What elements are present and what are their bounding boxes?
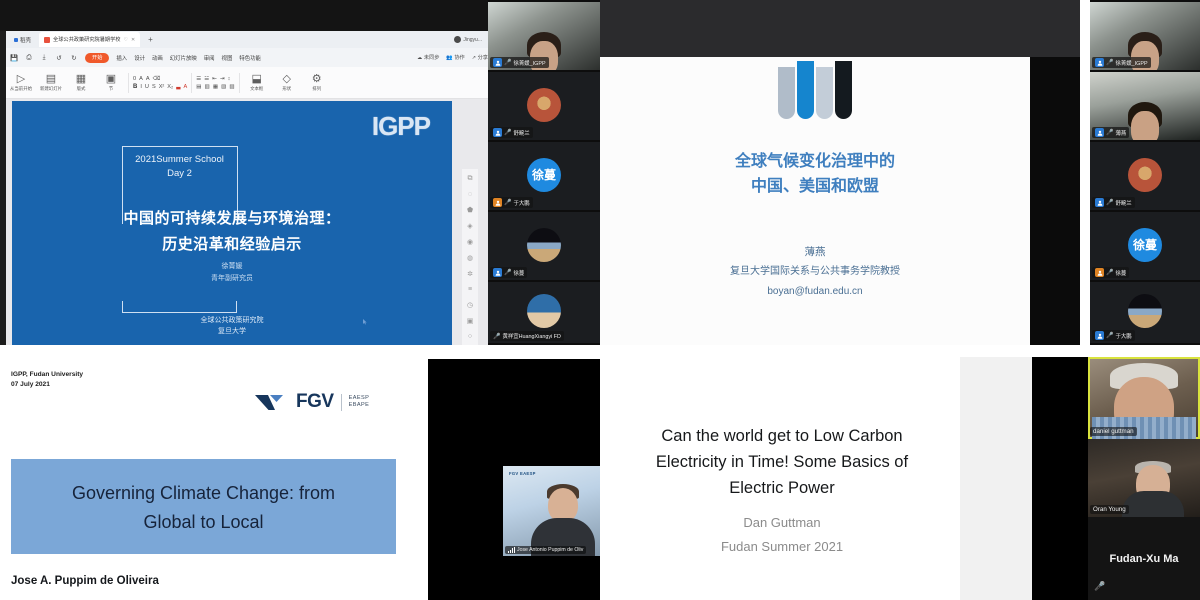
section-icon: ▣ [106, 74, 116, 85]
face-shape [548, 488, 578, 522]
bars-graphic [778, 61, 852, 119]
play-icon: ▷ [17, 74, 25, 85]
decrease-indent-icon[interactable]: ⇤ [212, 76, 217, 82]
arrange-button[interactable]: ⚙ 排列 [304, 74, 330, 92]
line-spacing-icon[interactable]: ↕ [228, 76, 231, 82]
black-side-pane [1028, 57, 1080, 345]
mic-muted-icon: 🎤 [1106, 59, 1113, 66]
avatar: 徐蔓 [527, 158, 561, 192]
font-group: 0 A A ⌫ B I U S X² X₂ ▃ [133, 76, 187, 90]
image-icon[interactable]: ▣ [467, 317, 474, 325]
participant-nametag: 🎤 徐菁媛_IGPP [490, 57, 549, 68]
black-side-pane: FGV EAESP Jose Antonio Puppim de Oliv [428, 359, 600, 600]
black-side-pane: daniel guttman Oran Young Fudan-Xu Ma 🎤 [1032, 357, 1200, 600]
people-icon: 👥 [446, 55, 452, 61]
fgv-watermark: FGV EAESP [509, 471, 536, 476]
participant-tile[interactable]: 🎤 徐菁媛_IGPP [1090, 2, 1200, 70]
video-on-icon [1095, 128, 1104, 137]
fgv-logo: FGV EAESP EBAPE [255, 391, 369, 413]
font-row-bottom: B I U S X² X₂ ▃ A [133, 84, 187, 90]
igpp-logo: IGPP [372, 111, 430, 142]
slide-title: 全球气候变化治理中的 中国、美国和欧盟 [600, 149, 1030, 199]
slide-content[interactable]: IGPP 2021Summer School Day 2 中国的可持续发展与环境… [12, 101, 452, 345]
fgv-mark-icon [255, 393, 289, 412]
mic-muted-icon: 🎤 [1094, 581, 1105, 592]
bullets-icon[interactable]: ☰ [196, 76, 201, 82]
mic-muted-icon: 🎤 [1106, 269, 1113, 276]
fgv-sub-line1: EAESP [349, 395, 370, 403]
signal-strength-icon [508, 547, 515, 553]
participant-panel-q1: 🎤 徐菁媛_IGPP 🎤 舒畹兰 徐蔓 [488, 0, 600, 345]
mic-muted-icon: 🎤 [504, 199, 511, 206]
bold-button[interactable]: B [133, 84, 137, 90]
slide-org-line2: 复旦大学 [12, 326, 452, 337]
bar-3 [816, 67, 833, 119]
align-left-icon[interactable]: ▤ [196, 84, 201, 90]
avatar-initials: 徐蔓 [1133, 236, 1157, 253]
avatar [527, 88, 561, 122]
slide-title-line1: 中国的可持续发展与环境治理： [12, 206, 452, 232]
slide-content[interactable]: Can the world get to Low Carbon Electric… [600, 357, 960, 600]
participant-name: Jose Antonio Puppim de Oliv [517, 547, 583, 553]
bar-1 [778, 67, 795, 119]
participant-name: 徐蔓 [513, 269, 524, 277]
new-slide-button[interactable]: ▤ 新建幻灯片 [38, 74, 64, 92]
right-tool-rail: ⧉ ◌ ⬟ ◈ ◉ ◍ ✲ ≡ ◷ ▣ ○ [462, 169, 478, 345]
ribbon-tab-slideshow[interactable]: 幻灯片放映 [170, 54, 197, 62]
account-label: Jingyu... [463, 37, 482, 43]
participant-nametag: 🎤 舒畹兰 [490, 127, 533, 138]
self-video-tile[interactable]: FGV EAESP Jose Antonio Puppim de Oliv [503, 466, 600, 556]
slide-author-affiliation: 复旦大学国际关系与公共事务学院教授 [600, 262, 1030, 282]
face-shape [1131, 111, 1159, 140]
slide-speaker: Jose A. Puppim de Oliveira [11, 575, 159, 587]
participant-name: Oran Young [1090, 505, 1129, 514]
globe-icon[interactable]: ◍ [467, 254, 473, 262]
shape-button[interactable]: ◇ 形状 [274, 74, 300, 92]
wps-tab-bar: 稻壳 全球公共政策研究院暑期学校 ♡ ✕ + Jingyu... [6, 31, 488, 48]
align-right-icon[interactable]: ▦ [213, 84, 218, 90]
light-side-pane [960, 357, 1032, 600]
video-off-icon [1095, 268, 1104, 277]
slide-content[interactable]: IGPP, Fudan University 07 July 2021 FGV … [0, 359, 428, 600]
participant-tile[interactable]: 🎤 舒畹兰 [488, 72, 600, 140]
slide-presenter-name: 徐菁媛 [12, 261, 452, 273]
video-on-icon [493, 58, 502, 67]
logo-divider [341, 394, 342, 411]
slide-title-line2: 中国、美国和欧盟 [600, 174, 1030, 199]
quadrant-wps-share: 稻壳 全球公共政策研究院暑期学校 ♡ ✕ + Jingyu... [0, 0, 600, 345]
slide-title-line1: 全球气候变化治理中的 [600, 149, 1030, 174]
redo-icon[interactable]: ↻ [70, 54, 78, 62]
toolbar-divider-3 [239, 73, 240, 93]
target-icon[interactable]: ◉ [467, 238, 473, 246]
title-band: Governing Climate Change: from Global to… [11, 459, 396, 554]
slide-title-line1: Can the world get to Low Carbon [612, 423, 952, 449]
more-icon[interactable]: ○ [468, 333, 472, 340]
wps-ribbon-toolbar: ▷ 从当前开始 ▤ 新建幻灯片 ▦ 版式 ▣ 节 [6, 67, 488, 99]
wps-app-window: 稻壳 全球公共政策研究院暑期学校 ♡ ✕ + Jingyu... [6, 31, 488, 345]
participant-name: 于大鹏 [513, 199, 529, 207]
favorite-icon[interactable]: ♡ [123, 37, 127, 43]
slide-author-name: 薄燕 [600, 242, 1030, 262]
participant-nametag: 🎤 于大鹏 [490, 197, 533, 208]
share-button[interactable]: ↗ 分享 [472, 54, 488, 61]
video-off-icon [1095, 198, 1104, 207]
participant-nametag: 🎤 黄祥宜HuangXiangyi FD [490, 331, 564, 341]
slide-title-line2: Electricity in Time! Some Basics of [612, 449, 952, 475]
slide-presenter-title: 青年副研究员 [12, 273, 452, 285]
font-row-top: 0 A A ⌫ [133, 76, 187, 82]
slide-org-line1: 全球公共政策研究院 [12, 315, 452, 326]
video-off-icon [493, 198, 502, 207]
participant-panel-q4: daniel guttman Oran Young Fudan-Xu Ma 🎤 [1088, 357, 1200, 600]
share-icon: ↗ [472, 55, 476, 61]
mic-muted-icon: 🎤 [504, 129, 511, 136]
mic-muted-icon: 🎤 [1106, 332, 1113, 339]
cloud-icon: ☁ [417, 55, 422, 61]
search-icon[interactable]: ◌ [468, 191, 472, 198]
ribbon-tab-view[interactable]: 视图 [222, 54, 233, 62]
avatar [454, 36, 461, 43]
slide-title-line3: Electric Power [612, 475, 952, 501]
arrange-label: 排列 [312, 86, 321, 92]
sliders-icon[interactable]: ≡ [468, 286, 472, 293]
lock-icon[interactable]: ⬟ [467, 206, 473, 214]
ribbon-tab-design[interactable]: 设计 [134, 54, 145, 62]
document-tab[interactable]: 全球公共政策研究院暑期学校 ♡ ✕ [39, 32, 140, 47]
paragraph-group: ☰ ☱ ⇤ ⇥ ↕ ▤ ▥ ▦ ▧ ▨ [196, 76, 234, 90]
export-icon[interactable]: ⤓ [40, 54, 48, 62]
share-label: 分享 [478, 54, 488, 61]
participant-panel-q2: 🎤 徐菁媛_IGPP 🎤 薄燕 [1090, 0, 1200, 345]
mic-muted-icon: 🎤 [504, 269, 511, 276]
slide-content[interactable]: 全球气候变化治理中的 中国、美国和欧盟 薄燕 复旦大学国际关系与公共事务学院教授… [600, 57, 1030, 345]
participant-name: 徐蔓 [1115, 269, 1126, 277]
participant-name: Fudan-Xu Ma [1109, 553, 1178, 565]
participant-name: 于大鹏 [1115, 332, 1131, 340]
numbering-icon[interactable]: ☱ [204, 76, 209, 82]
clear-format-icon[interactable]: ⌫ [153, 76, 161, 82]
slide-title-line1: Governing Climate Change: from [11, 479, 396, 508]
slide-title-line2: Global to Local [11, 508, 396, 537]
participant-nametag: Jose Antonio Puppim de Oliv [505, 546, 586, 554]
participant-tile[interactable]: 🎤 徐菁媛_IGPP [488, 2, 600, 70]
shape-label: 形状 [282, 86, 291, 92]
avatar-initials: 徐蔓 [532, 166, 556, 183]
slide-title: 中国的可持续发展与环境治理： 历史沿革和经验启示 [12, 206, 452, 258]
participant-tile[interactable]: 🎤 薄燕 [1090, 72, 1200, 140]
shared-window: 稻壳 全球公共政策研究院暑期学校 ♡ ✕ + Jingyu... [0, 0, 488, 345]
fgv-logo-text: FGV [296, 391, 334, 413]
video-off-icon [1095, 331, 1104, 340]
justify-icon[interactable]: ▧ [221, 84, 226, 90]
wps-ribbon-tabs: 💾 ⎙ ⤓ ↺ ↻ 开始 插入 设计 动画 幻灯片放映 审阅 视图 特色功能 ☁ [6, 48, 488, 67]
textbox-button[interactable]: ⬓ 文本框 [244, 74, 270, 92]
toolbar-divider [128, 73, 129, 93]
participant-nametag: 🎤 薄燕 [1092, 127, 1129, 138]
slide-subtitle-line2: Fudan Summer 2021 [612, 535, 952, 559]
underline-button[interactable]: U [145, 84, 149, 90]
fgv-sub-line2: EBAPE [349, 402, 370, 410]
subscript-button[interactable]: X₂ [167, 84, 173, 90]
collaborate-label: 协作 [454, 54, 464, 61]
avatar [527, 294, 561, 328]
wps-home-icon [14, 38, 18, 42]
avatar [527, 228, 561, 262]
avatar: 徐蔓 [1128, 228, 1162, 262]
document-tab-label: 全球公共政策研究院暑期学校 [53, 36, 120, 43]
slide-author-email: boyan@fudan.edu.cn [600, 282, 1030, 302]
slide-title: Governing Climate Change: from Global to… [11, 479, 396, 537]
slide-header: IGPP, Fudan University 07 July 2021 [11, 370, 83, 389]
align-center-icon[interactable]: ▥ [205, 84, 210, 90]
slide-author-block: 薄燕 复旦大学国际关系与公共事务学院教授 boyan@fudan.edu.cn [600, 242, 1030, 302]
screenshot-grid: 稻壳 全球公共政策研究院暑期学校 ♡ ✕ + Jingyu... [0, 0, 1200, 600]
columns-icon[interactable]: ▨ [229, 84, 234, 90]
slide-header-line1: IGPP, Fudan University [11, 370, 83, 380]
quadrant-climate-slide: 全球气候变化治理中的 中国、美国和欧盟 薄燕 复旦大学国际关系与公共事务学院教授… [600, 0, 1200, 345]
grow-font-icon[interactable]: A [139, 76, 143, 82]
summer-school-line1: 2021Summer School [122, 153, 237, 167]
participant-tile[interactable]: 徐蔓 🎤 于大鹏 [488, 142, 600, 210]
shrink-font-icon[interactable]: A [146, 76, 150, 82]
participant-tile[interactable]: Oran Young [1088, 439, 1200, 517]
print-icon[interactable]: ⎙ [25, 54, 33, 62]
para-row-bottom: ▤ ▥ ▦ ▧ ▨ [196, 84, 234, 90]
new-tab-button[interactable]: + [144, 35, 157, 44]
section-label: 节 [109, 86, 113, 92]
new-slide-label: 新建幻灯片 [40, 86, 62, 92]
textbox-icon: ⬓ [252, 74, 262, 85]
slide-header-line2: 07 July 2021 [11, 380, 83, 390]
copy-icon[interactable]: ⧉ [468, 175, 473, 183]
settings-icon[interactable]: ✲ [467, 270, 473, 278]
participant-name: 薄燕 [1115, 129, 1126, 137]
sync-status[interactable]: ☁ 未同步 [417, 54, 439, 61]
para-row-top: ☰ ☱ ⇤ ⇥ ↕ [196, 76, 234, 82]
video-off-icon [493, 268, 502, 277]
layout-icon: ▦ [76, 74, 86, 85]
igpp-logo-text: IGPP [372, 111, 430, 141]
ribbon-tab-review[interactable]: 审阅 [204, 54, 215, 62]
torso-shape [1122, 491, 1184, 517]
save-icon[interactable]: 💾 [10, 54, 18, 62]
highlight-color-button[interactable]: ▃ [176, 84, 180, 90]
ribbon-tab-features[interactable]: 特色功能 [239, 54, 261, 62]
slide-subtitle: Dan Guttman Fudan Summer 2021 [612, 511, 952, 559]
video-on-icon [1095, 58, 1104, 67]
participant-name: 徐菁媛_IGPP [513, 59, 545, 67]
toolbar-divider-2 [191, 73, 192, 93]
avatar [1128, 158, 1162, 192]
participant-name: 徐菁媛_IGPP [1115, 59, 1147, 67]
participant-tile[interactable]: 🎤 徐蔓 [488, 212, 600, 280]
participant-name: daniel guttman [1090, 427, 1137, 436]
quadrant-electric-power-slide: Can the world get to Low Carbon Electric… [600, 345, 1200, 600]
participant-tile[interactable]: 🎤 舒畹兰 [1090, 142, 1200, 210]
video-off-icon [493, 128, 502, 137]
slide-canvas-area: IGPP 2021Summer School Day 2 中国的可持续发展与环境… [6, 99, 488, 345]
slide-title-line2: 历史沿革和经验启示 [12, 232, 452, 258]
participant-nametag: 🎤 徐菁媛_IGPP [1092, 57, 1151, 68]
bar-4 [835, 61, 852, 119]
font-size-value[interactable]: 0 [133, 76, 136, 82]
close-icon[interactable]: ✕ [131, 37, 135, 43]
slide-presenter-block: 徐菁媛 青年副研究员 [12, 261, 452, 285]
window-title-strip [600, 0, 1080, 57]
layout-label: 版式 [77, 86, 86, 92]
wps-home-button[interactable]: 稻壳 [10, 35, 35, 45]
arrange-icon: ⚙ [312, 74, 322, 85]
participant-name: 舒畹兰 [1115, 199, 1131, 207]
sync-status-label: 未同步 [424, 54, 440, 61]
strikethrough-button[interactable]: S [152, 84, 156, 90]
summer-school-block: 2021Summer School Day 2 [122, 153, 237, 181]
participant-nametag: 🎤 舒畹兰 [1092, 197, 1135, 208]
textbox-label: 文本框 [250, 86, 263, 92]
mic-on-icon: 🎤 [1106, 129, 1113, 136]
layers-icon[interactable]: ◈ [467, 222, 472, 230]
quadrant-fgv-slide: IGPP, Fudan University 07 July 2021 FGV … [0, 345, 600, 600]
participant-tile[interactable]: 徐蔓 🎤 徐蔓 [1090, 212, 1200, 280]
participant-tile[interactable]: daniel guttman [1088, 357, 1200, 439]
superscript-button[interactable]: X² [159, 84, 165, 90]
ribbon-tab-home[interactable]: 开始 [85, 53, 109, 63]
collaborate-button[interactable]: 👥 协作 [446, 54, 464, 61]
increase-indent-icon[interactable]: ⇥ [220, 76, 225, 82]
participant-tile[interactable]: 🎤 于大鹏 [1090, 282, 1200, 343]
mouse-cursor-icon [363, 319, 367, 325]
font-color-button[interactable]: A [184, 84, 188, 90]
ribbon-tab-animation[interactable]: 动画 [152, 54, 163, 62]
mic-muted-icon: 🎤 [1106, 199, 1113, 206]
window-title-strip [0, 0, 488, 31]
new-slide-icon: ▤ [46, 74, 56, 85]
from-current-label: 从当前开始 [10, 86, 32, 92]
mic-muted-icon: 🎤 [493, 333, 500, 340]
decor-bracket-bottom [122, 301, 237, 313]
ppt-file-icon [44, 37, 50, 43]
section-button[interactable]: ▣ 节 [98, 74, 124, 92]
participant-tile[interactable]: 🎤 黄祥宜HuangXiangyi FD [488, 282, 600, 343]
avatar [1128, 294, 1162, 328]
account-chip[interactable]: Jingyu... [454, 36, 488, 43]
bar-2 [797, 61, 814, 119]
participant-nametag: 🎤 徐蔓 [490, 267, 527, 278]
shape-icon: ◇ [282, 74, 290, 85]
participant-name: 舒畹兰 [513, 129, 529, 137]
ribbon-tab-insert[interactable]: 插入 [116, 54, 127, 62]
summer-school-line2: Day 2 [122, 167, 237, 181]
participant-name: 黄祥宜HuangXiangyi FD [502, 332, 560, 340]
from-current-slide-button[interactable]: ▷ 从当前开始 [8, 74, 34, 92]
wps-home-label: 稻壳 [20, 36, 31, 44]
layout-button[interactable]: ▦ 版式 [68, 74, 94, 92]
slide-title: Can the world get to Low Carbon Electric… [612, 423, 952, 501]
history-icon[interactable]: ◷ [467, 301, 473, 309]
fgv-logo-sub: EAESP EBAPE [349, 395, 370, 410]
slide-footer: 全球公共政策研究院 复旦大学 [12, 315, 452, 337]
participant-nametag: 🎤 于大鹏 [1092, 330, 1135, 341]
mic-on-icon: 🎤 [504, 59, 511, 66]
slide-subtitle-line1: Dan Guttman [612, 511, 952, 535]
participant-nametag: 🎤 徐蔓 [1092, 267, 1129, 278]
italic-button[interactable]: I [140, 84, 142, 90]
participant-tile[interactable]: Fudan-Xu Ma 🎤 [1088, 517, 1200, 600]
undo-icon[interactable]: ↺ [55, 54, 63, 62]
